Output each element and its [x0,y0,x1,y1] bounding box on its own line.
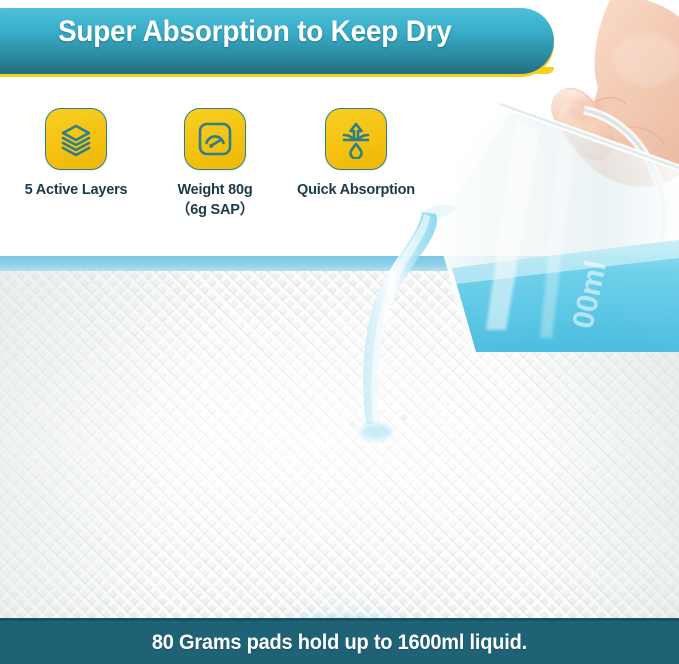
feature-item-layers: 5 Active Layers [12,108,140,200]
footer-text: 80 Grams pads hold up to 1600ml liquid. [152,631,527,655]
feature-caption-absorption: Quick Absorption [280,181,432,200]
pad-top-edge-strip [0,256,679,271]
footer-banner: 80 Grams pads hold up to 1600ml liquid. [0,618,679,664]
top-info-panel: Super Absorption to Keep Dry [0,0,679,256]
page-title: Super Absorption to Keep Dry [58,0,452,66]
layers-icon [56,119,96,159]
pad-shading [0,270,679,618]
feature-item-weight: Weight 80g （6g SAP） [152,108,278,220]
feature-list: 5 Active Layers Weight 80g （6g SAP） [0,108,440,248]
layers-badge [45,108,107,170]
feature-caption-layers: 5 Active Layers [12,181,140,200]
pad-surface [0,270,679,618]
gauge-icon [194,118,236,160]
feature-subcaption-sap: （6g SAP） [152,200,278,220]
absorption-badge [325,108,387,170]
feature-caption-weight: Weight 80g [152,181,278,200]
absorbent-pad-photo [0,256,679,618]
feature-item-absorption: Quick Absorption [280,108,432,200]
absorption-arrow-drop-icon [336,119,376,159]
product-infographic: Super Absorption to Keep Dry [0,0,679,664]
weight-badge [184,108,246,170]
